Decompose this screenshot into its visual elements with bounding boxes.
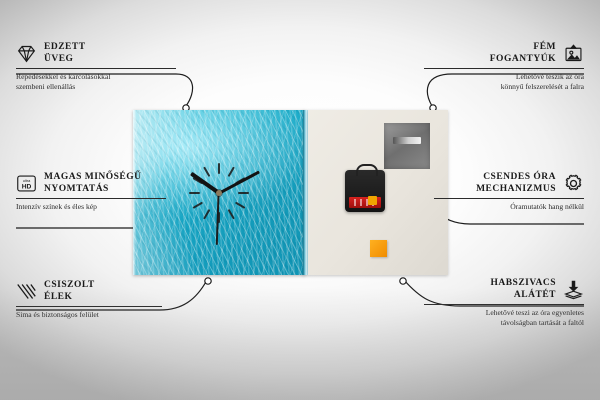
svg-text:ultra: ultra	[23, 179, 31, 183]
callout-title-line1: FÉM	[424, 42, 556, 54]
callout-title-line2: MECHANIZMUS	[434, 184, 556, 196]
callout-desc-line1: Lehetővé teszik az óra	[424, 72, 584, 82]
callout-title-line2: ALÁTÉT	[424, 290, 556, 302]
callout-desc-line2: szembeni ellenállás	[16, 82, 176, 92]
orange-foam-pad	[370, 240, 387, 257]
callout-title-line1: HABSZIVACS	[424, 278, 556, 290]
callout-silent-mechanism: CSENDES ÓRA MECHANIZMUS Óramutatók hang …	[434, 172, 584, 212]
connector-dot-edges	[205, 278, 211, 284]
callout-title-line1: MAGAS MINŐSÉGŰ	[44, 172, 142, 184]
callout-title-line1: CSENDES ÓRA	[434, 172, 556, 184]
callout-title-line2: ÜVEG	[44, 54, 86, 66]
diamond-icon	[16, 43, 37, 64]
metal-hanger-bracket	[384, 123, 430, 169]
callout-foam-pad: HABSZIVACS ALÁTÉT Lehetővé teszi az óra …	[424, 278, 584, 327]
callout-title-line1: EDZETT	[44, 42, 86, 54]
beveled-edges-icon	[16, 281, 37, 302]
battery-label	[349, 197, 381, 208]
callout-rule	[424, 68, 584, 69]
gear-icon	[563, 173, 584, 194]
callout-title-line1: CSISZOLT	[44, 280, 95, 292]
callout-desc-line2: könnyű felszerelését a falra	[424, 82, 584, 92]
ultra-hd-icon: ultra HD	[16, 173, 37, 194]
callout-polished-edges: CSISZOLT ÉLEK Sima és biztonságos felüle…	[16, 280, 162, 320]
callout-desc-line2: távolságban tartását a faltól	[424, 318, 584, 328]
callout-title-line2: NYOMTATÁS	[44, 184, 142, 196]
connector-dot-foam	[400, 278, 406, 284]
clock-back-panel	[308, 110, 448, 275]
callout-rule	[16, 198, 166, 199]
infographic-canvas: EDZETT ÜVEG Repedésekkel és karcolásokka…	[0, 0, 600, 400]
callout-desc-line1: Lehetővé teszi az óra egyenletes	[424, 308, 584, 318]
callout-desc-line1: Óramutatók hang nélkül	[434, 202, 584, 212]
callout-metal-hooks: FÉM FOGANTYÚK Lehetővé teszik az óra kön…	[424, 42, 584, 91]
callout-high-quality-print: ultra HD MAGAS MINŐSÉGŰ NYOMTATÁS Intenz…	[16, 172, 166, 212]
foam-pad-arrow-icon	[563, 279, 584, 300]
callout-title-line2: ÉLEK	[44, 292, 95, 304]
callout-desc-line1: Repedésekkel és karcolásokkal	[16, 72, 176, 82]
callout-rule	[16, 68, 176, 69]
product-image	[133, 110, 448, 275]
callout-rule	[434, 198, 584, 199]
callout-desc-line1: Sima és biztonságos felület	[16, 310, 162, 320]
clock-center-hub	[216, 190, 222, 196]
svg-text:HD: HD	[22, 183, 32, 190]
callout-title-line2: FOGANTYÚK	[424, 54, 556, 66]
callout-desc-line1: Intenzív színek és éles kép	[16, 202, 166, 212]
callout-rule	[424, 304, 584, 305]
callout-tempered-glass: EDZETT ÜVEG Repedésekkel és karcolásokka…	[16, 42, 176, 91]
clock-mechanism	[345, 170, 385, 212]
callout-rule	[16, 306, 162, 307]
picture-hanger-icon	[563, 43, 584, 64]
